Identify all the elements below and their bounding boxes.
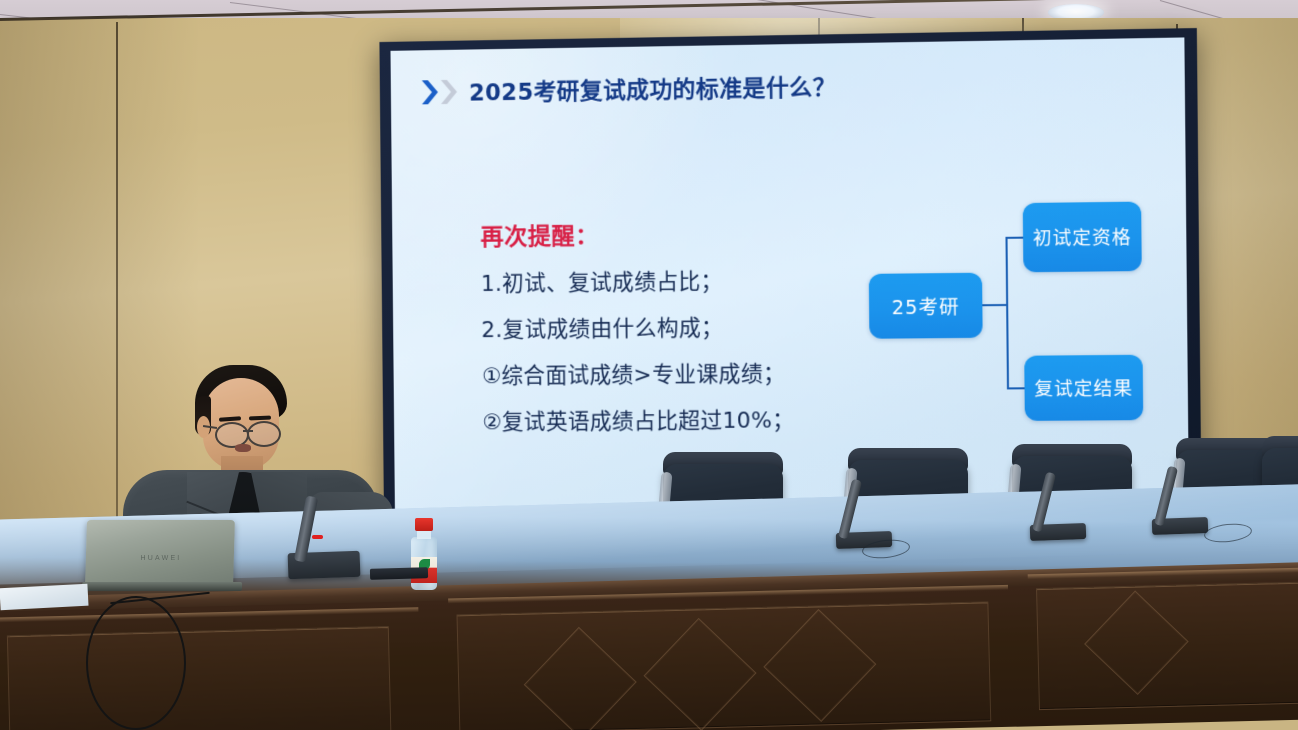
bullet-line-1: 1.初试、复试成绩占比；: [481, 264, 793, 298]
bottle-neck: [417, 530, 431, 539]
slide-diagram: 25考研 初试定资格 复试定结果: [868, 201, 1171, 478]
bullet-line-4: ②复试英语成绩占比超过10%；: [482, 403, 794, 436]
paper-sheet[interactable]: [0, 584, 89, 611]
bottle-cap: [415, 518, 433, 531]
mouth: [235, 444, 251, 452]
slide-body: 再次提醒： 1.初试、复试成绩占比； 2.复试成绩由什么构成； ①综合面试成绩>…: [480, 214, 794, 451]
chevron-right-icon-secondary: [440, 78, 459, 106]
eyebrow-right: [249, 416, 271, 421]
diagram-node-child-2[interactable]: 复试定结果: [1024, 355, 1143, 421]
diagram-node-child-1[interactable]: 初试定资格: [1023, 202, 1142, 273]
remind-heading: 再次提醒：: [480, 214, 792, 252]
double-chevron-icon: [421, 78, 459, 107]
water-bottle[interactable]: [409, 518, 439, 590]
desk-device[interactable]: [370, 567, 428, 580]
conference-room-scene: 2025考研复试成功的标准是什么？ 再次提醒： 1.初试、复试成绩占比； 2.复…: [0, 0, 1298, 730]
bullet-line-3: ①综合面试成绩>专业课成绩；: [482, 357, 794, 391]
table-panel-lip: [0, 607, 418, 622]
chevron-right-icon-primary: [421, 78, 440, 106]
bullet-line-2: 2.复试成绩由什么构成；: [481, 310, 793, 344]
laptop-lid: [85, 520, 235, 586]
diagram-node-child-1-label: 初试定资格: [1033, 223, 1132, 251]
mic-indicator-led: [312, 535, 323, 539]
glasses-lens-right: [247, 421, 281, 447]
diagram-node-child-2-label: 复试定结果: [1034, 374, 1133, 401]
diagram-link-trunk: [1005, 237, 1009, 390]
glasses-bridge: [243, 430, 253, 432]
laptop-base: [82, 582, 242, 591]
diagram-node-root[interactable]: 25考研: [869, 273, 983, 339]
slide-title-row: 2025考研复试成功的标准是什么？: [421, 70, 837, 109]
slide-title: 2025考研复试成功的标准是什么？: [469, 70, 836, 108]
laptop[interactable]: HUAWEI: [86, 520, 234, 592]
laptop-brand-label: HUAWEI: [126, 555, 196, 562]
table-panel: [7, 626, 392, 730]
diagram-link-root: [982, 304, 1008, 306]
diagram-node-root-label: 25考研: [891, 292, 959, 320]
power-cable-loop: [86, 596, 186, 730]
